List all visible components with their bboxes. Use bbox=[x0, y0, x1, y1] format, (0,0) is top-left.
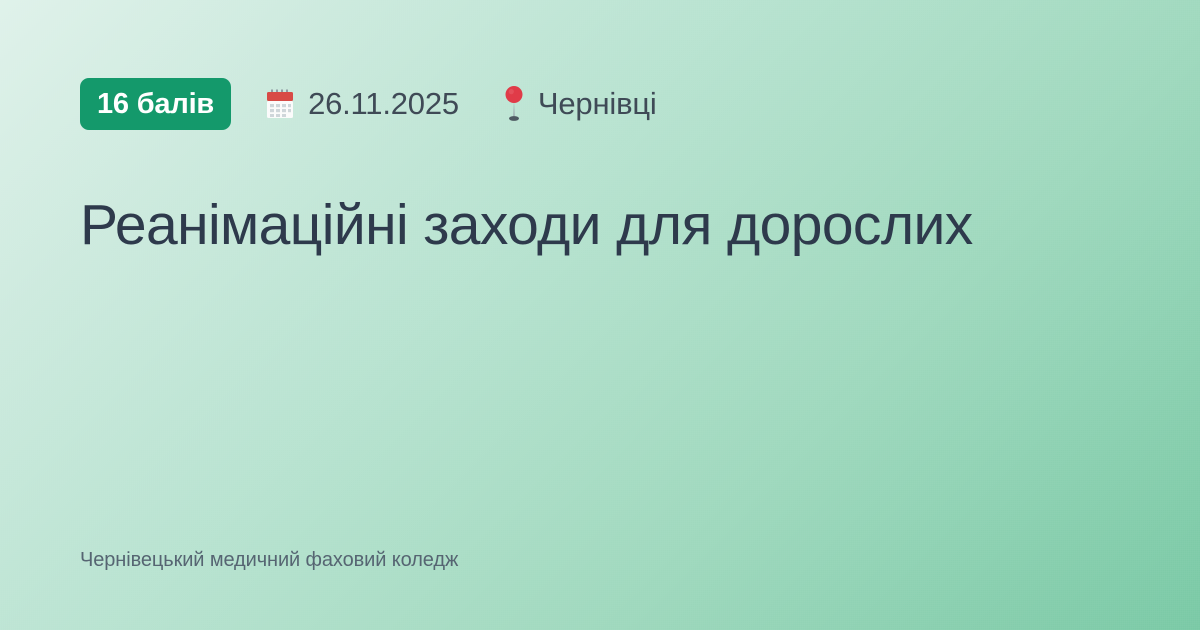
calendar-icon bbox=[265, 87, 295, 121]
event-date-text: 26.11.2025 bbox=[308, 86, 459, 122]
meta-row: 16 балів bbox=[80, 78, 1120, 130]
event-location-text: Чернівці bbox=[538, 86, 657, 122]
map-pin-icon bbox=[503, 84, 525, 124]
title-block: Реанімаційні заходи для дорослих bbox=[80, 192, 1120, 258]
event-card: 16 балів bbox=[0, 0, 1200, 630]
organization-name: Чернівецький медичний фаховий коледж bbox=[80, 549, 1120, 572]
event-location: Чернівці bbox=[503, 84, 657, 124]
event-date: 26.11.2025 bbox=[265, 86, 459, 122]
page-title: Реанімаційні заходи для дорослих bbox=[80, 192, 1090, 258]
layout-spacer bbox=[80, 258, 1120, 549]
points-badge: 16 балів bbox=[80, 78, 231, 130]
